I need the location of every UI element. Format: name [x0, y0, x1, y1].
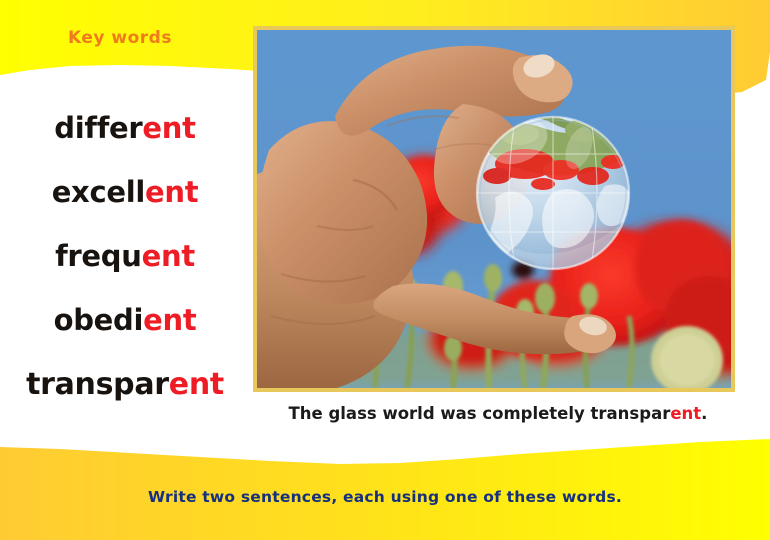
- keyword-suffix: ent: [169, 367, 224, 402]
- keyword-item-obedient: obedient: [0, 288, 250, 352]
- keyword-stem: transpar: [26, 367, 169, 402]
- caption-tail: .: [701, 404, 707, 423]
- keyword-suffix: ent: [142, 111, 195, 145]
- keyword-stem: differ: [54, 111, 142, 145]
- keyword-item-transparent: transparent: [0, 352, 250, 416]
- caption-stem: The glass world was completely transpar: [289, 404, 671, 423]
- keyword-stem: frequ: [55, 239, 142, 273]
- photo-frame: [253, 26, 735, 392]
- keyword-suffix: ent: [145, 175, 198, 209]
- keyword-list: different excellent frequent obedient tr…: [0, 96, 250, 416]
- photo-hand-holding-glass-globe: [257, 30, 731, 388]
- keyword-item-excellent: excellent: [0, 160, 250, 224]
- task-instruction: Write two sentences, each using one of t…: [0, 488, 770, 506]
- keyword-text: transparent: [26, 367, 224, 402]
- keyword-text: obedient: [54, 303, 197, 337]
- page-title: Key words: [68, 28, 172, 48]
- caption-suffix: ent: [670, 404, 701, 423]
- worksheet-page: Key words different excellent frequent o…: [0, 0, 770, 540]
- keyword-text: different: [54, 111, 195, 145]
- keyword-stem: obedi: [54, 303, 144, 337]
- keyword-item-different: different: [0, 96, 250, 160]
- keyword-stem: excell: [52, 175, 145, 209]
- keyword-item-frequent: frequent: [0, 224, 250, 288]
- keyword-suffix: ent: [143, 303, 196, 337]
- keyword-text: frequent: [55, 239, 195, 273]
- keyword-text: excellent: [52, 175, 199, 209]
- keyword-suffix: ent: [142, 239, 195, 273]
- photo-caption: The glass world was completely transpare…: [253, 404, 743, 423]
